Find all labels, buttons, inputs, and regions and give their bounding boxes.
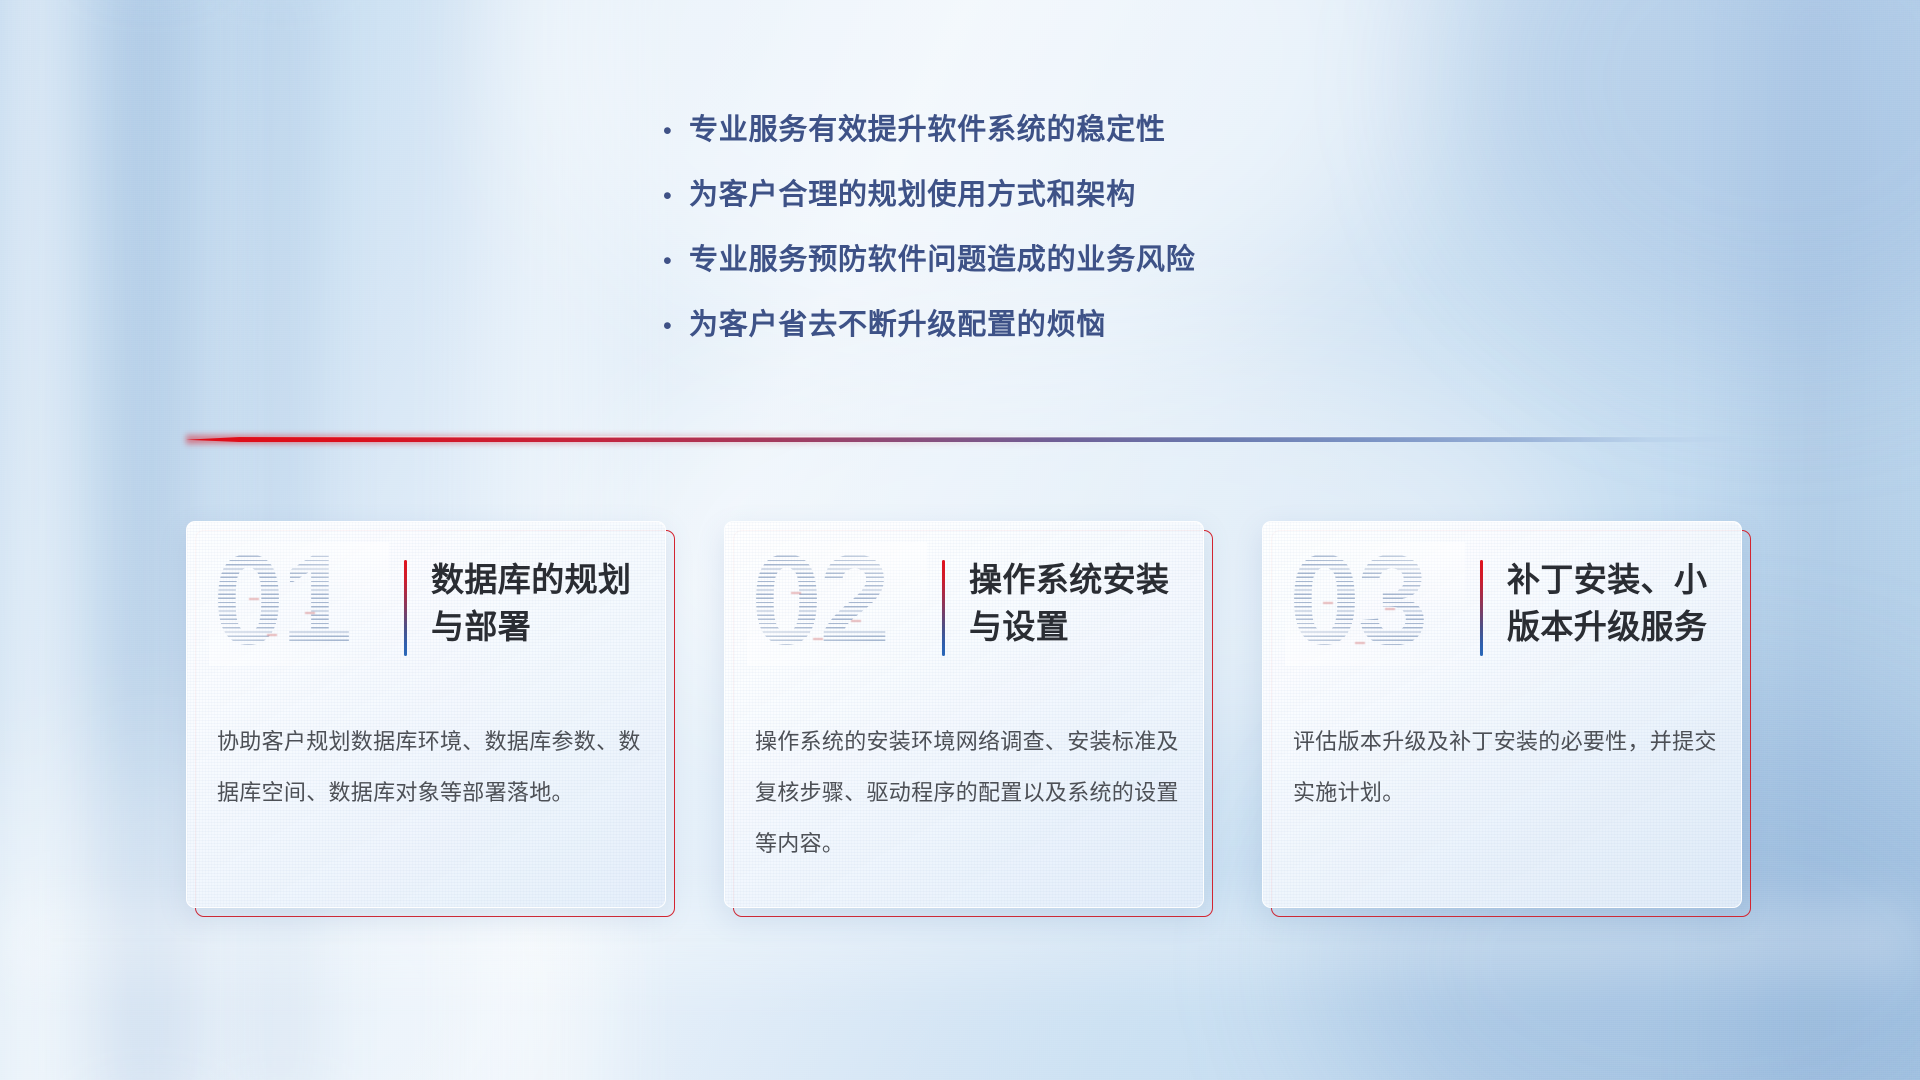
bullet-text: 为客户合理的规划使用方式和架构 [689, 171, 1136, 213]
bullet-text: 为客户省去不断升级配置的烦恼 [689, 301, 1106, 343]
divider-highlight [217, 436, 1711, 438]
card-header: 01 数据库的规划与部署 [187, 534, 665, 674]
bullet-text: 专业服务有效提升软件系统的稳定性 [689, 106, 1166, 148]
service-card-group: 01 数据库的规划与部署 协助客户规划数据库环境、数据库参数、数据库空间、数据库… [186, 521, 1742, 923]
list-item: • 专业服务预防软件问题造成的业务风险 [663, 236, 1483, 301]
card-title-accent-rule [942, 560, 945, 656]
card-header: 02 操作系统安装与设置 [725, 534, 1203, 674]
card-body-text: 操作系统的安装环境网络调查、安装标准及复核步骤、驱动程序的配置以及系统的设置等内… [755, 716, 1183, 869]
card-number: 01 [213, 544, 383, 662]
card-title-accent-rule [404, 560, 407, 656]
card-surface: 02 操作系统安装与设置 操作系统的安装环境网络调查、安装标准及复核步骤、驱动程… [724, 521, 1204, 908]
bullet-marker-icon: • [663, 115, 689, 144]
list-item: • 专业服务有效提升软件系统的稳定性 [663, 106, 1483, 171]
bullet-text: 专业服务预防软件问题造成的业务风险 [689, 236, 1196, 278]
card-number: 02 [751, 544, 921, 662]
card-title: 数据库的规划与部署 [431, 556, 645, 650]
card-surface: 01 数据库的规划与部署 协助客户规划数据库环境、数据库参数、数据库空间、数据库… [186, 521, 666, 908]
card-header: 03 补丁安装、小版本升级服务 [1263, 534, 1741, 674]
card-surface: 03 补丁安装、小版本升级服务 评估版本升级及补丁安装的必要性，并提交实施计划。 [1262, 521, 1742, 908]
service-card[interactable]: 01 数据库的规划与部署 协助客户规划数据库环境、数据库参数、数据库空间、数据库… [186, 521, 666, 908]
card-body-text: 评估版本升级及补丁安装的必要性，并提交实施计划。 [1293, 716, 1721, 818]
card-title-accent-rule [1480, 560, 1483, 656]
card-title: 补丁安装、小版本升级服务 [1507, 556, 1721, 650]
bullet-marker-icon: • [663, 180, 689, 209]
list-item: • 为客户合理的规划使用方式和架构 [663, 171, 1483, 236]
bullet-marker-icon: • [663, 245, 689, 274]
card-body-text: 协助客户规划数据库环境、数据库参数、数据库空间、数据库对象等部署落地。 [217, 716, 645, 818]
bullet-marker-icon: • [663, 310, 689, 339]
service-card[interactable]: 02 操作系统安装与设置 操作系统的安装环境网络调查、安装标准及复核步骤、驱动程… [724, 521, 1204, 908]
section-divider [186, 433, 1742, 447]
service-card[interactable]: 03 补丁安装、小版本升级服务 评估版本升级及补丁安装的必要性，并提交实施计划。 [1262, 521, 1742, 908]
benefits-bullet-list: • 专业服务有效提升软件系统的稳定性 • 为客户合理的规划使用方式和架构 • 专… [663, 106, 1483, 366]
card-number: 03 [1289, 544, 1459, 662]
card-title: 操作系统安装与设置 [969, 556, 1183, 650]
list-item: • 为客户省去不断升级配置的烦恼 [663, 301, 1483, 366]
divider-line [186, 437, 1742, 442]
